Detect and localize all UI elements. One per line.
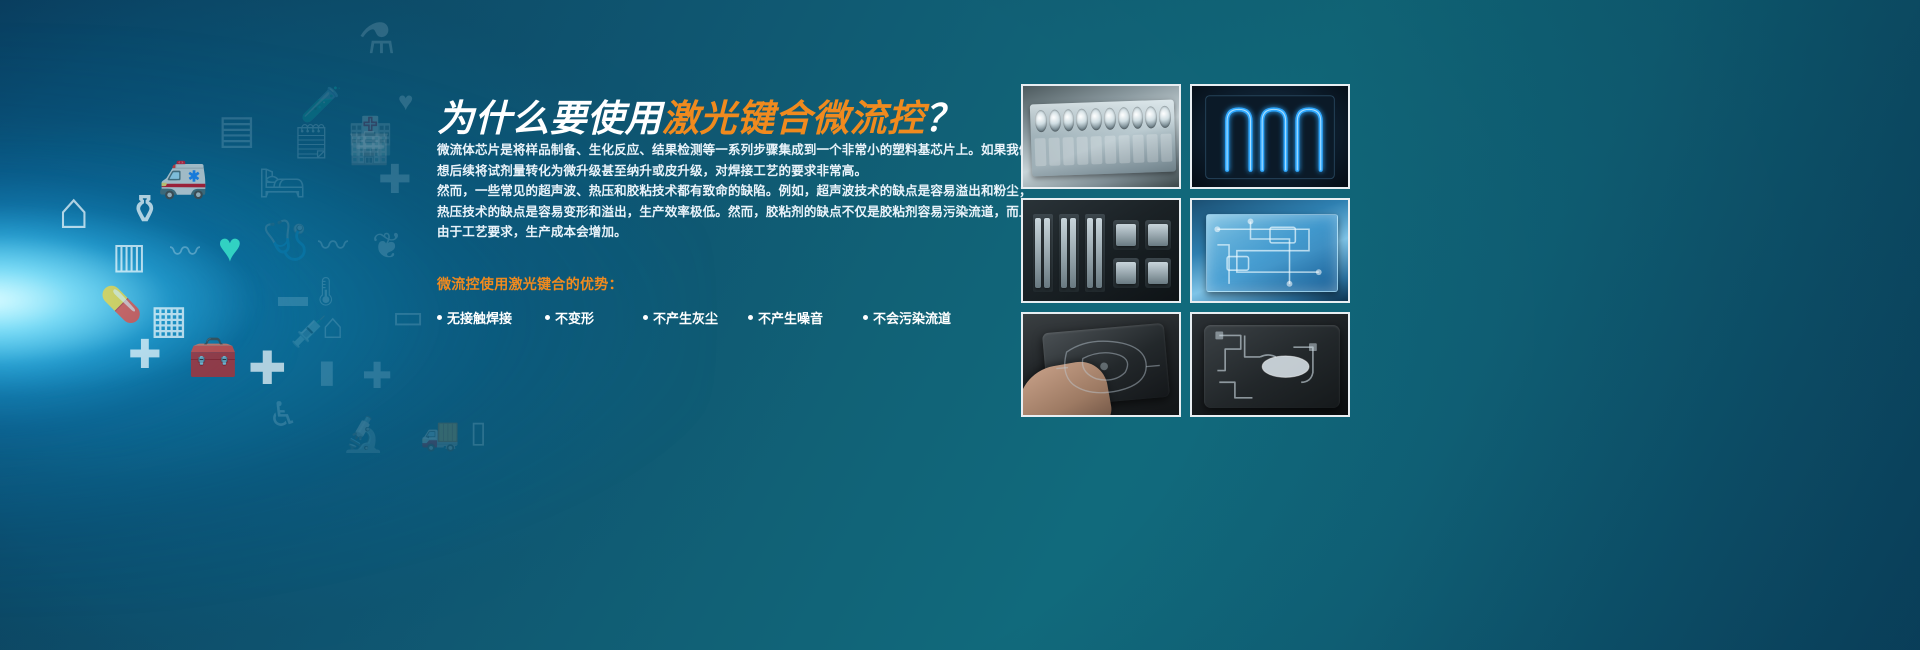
- gallery-item-4[interactable]: [1190, 198, 1350, 303]
- book-icon: ▭: [392, 300, 424, 334]
- id-card-icon: ▤: [218, 110, 256, 150]
- title-white-part: 为什么要使用: [437, 98, 662, 139]
- wheelchair-icon: ♿: [268, 398, 298, 432]
- test-tube-icon: 🧪: [300, 88, 342, 122]
- thermometer-icon: 🌡: [308, 278, 344, 306]
- cross-circle-icon: ✚: [128, 335, 162, 375]
- microscope-icon: 🔬: [342, 418, 384, 452]
- advantage-item: 无接触焊接: [437, 308, 545, 327]
- stethoscope-icon: 🩺: [262, 222, 309, 260]
- heart-icon: ♥: [218, 228, 242, 268]
- text-content: 为什么要使用激光键合微流控？ 微流体芯片是将样品制备、生化反应、结果检测等一系列…: [437, 0, 997, 650]
- first-aid-kit-icon: 🧰: [188, 338, 238, 378]
- bullet-dot-icon: [863, 315, 868, 320]
- advantages-subheading: 微流控使用激光键合的优势：: [437, 274, 623, 294]
- battery-icon: ▮: [318, 355, 336, 387]
- advantage-label: 不产生灰尘: [653, 308, 718, 327]
- hospital-bed-icon: 🛏: [258, 165, 306, 203]
- black-flexible-chip-in-hand-image: [1023, 314, 1179, 415]
- clear-strip-chip-array-image: [1023, 200, 1179, 301]
- serpentine-channel-chip-blue-image: [1192, 86, 1348, 187]
- advantage-item: 不变形: [545, 308, 643, 327]
- advantage-label: 不会污染流道: [873, 308, 951, 327]
- building-icon: 🏢: [348, 130, 390, 164]
- body-paragraph-line: 热压技术的缺点是容易变形和溢出，生产效率极低。然而，胶粘剂的缺点不仅是胶粘剂容易…: [437, 202, 967, 223]
- heart-pulse-icon: ♥: [398, 88, 413, 114]
- promo-banner: ⚗🧪▤🗒🏥♥🚑🛏✚🏢⌂⚱▥〰♥🩺〰❦💊▦▬🌡⌂▭✚💉🧰✚▮✚♿🔬🚚▯ 为什么要使…: [0, 0, 1920, 650]
- advantage-label: 不变形: [555, 308, 594, 327]
- advantage-label: 无接触焊接: [447, 308, 512, 327]
- clipboard-icon: 🗒: [290, 125, 333, 159]
- advantages-list: 无接触焊接不变形不产生灰尘不产生噪音不会污染流道: [437, 308, 967, 327]
- advantage-item: 不产生灰尘: [643, 308, 748, 327]
- body-paragraphs: 微流体芯片是将样品制备、生化反应、结果检测等一系列步骤集成到一个非常小的塑料基芯…: [437, 140, 967, 243]
- gallery-item-2[interactable]: [1190, 84, 1350, 189]
- bullet-dot-icon: [545, 315, 550, 320]
- medical-cross-icon: ✚: [248, 345, 287, 391]
- body-paragraph-line: 微流体芯片是将样品制备、生化反应、结果检测等一系列步骤集成到一个非常小的塑料基芯…: [437, 140, 967, 161]
- page-title: 为什么要使用激光键合微流控？: [437, 88, 962, 142]
- ecg-line-icon: 〰: [170, 238, 200, 268]
- kidney-icon: ❦: [372, 228, 402, 264]
- product-image-gallery: [1021, 84, 1350, 417]
- flask-icon: ⚗: [358, 18, 396, 60]
- body-paragraph-line: 然而，一些常见的超声波、热压和胶粘技术都有致命的缺陷。例如，超声波技术的缺点是容…: [437, 181, 967, 202]
- advantage-label: 不产生噪音: [758, 308, 823, 327]
- potion-icon: ⚱: [128, 190, 162, 230]
- body-paragraph-line: 想后续将试剂量转化为微升级甚至纳升或皮升级，对焊接工艺的要求非常高。: [437, 161, 967, 182]
- bandage-icon: ▬: [278, 282, 308, 312]
- syringe-icon: 💉: [290, 318, 327, 348]
- bullet-dot-icon: [437, 315, 442, 320]
- title-orange-part: 激光键合微流控: [662, 98, 925, 139]
- advantage-item: 不产生噪音: [748, 308, 863, 327]
- ambulance-icon: 🚑: [158, 158, 208, 198]
- gallery-item-6[interactable]: [1190, 312, 1350, 417]
- cross-icon: ✚: [378, 160, 412, 200]
- black-cartridge-with-chamber-image: [1192, 314, 1348, 415]
- body-paragraph-line: 由于工艺要求，生产成本会增加。: [437, 222, 967, 243]
- bullet-dot-icon: [643, 315, 648, 320]
- home-plus-icon: ⌂: [58, 185, 89, 237]
- gallery-item-5[interactable]: [1021, 312, 1181, 417]
- microfluidic-well-plate-strip-image: [1023, 86, 1179, 187]
- title-question-mark: ？: [925, 98, 963, 139]
- capsule-icon: 💊: [100, 288, 142, 322]
- plus-icon: ✚: [362, 358, 392, 394]
- gallery-item-1[interactable]: [1021, 84, 1181, 189]
- bullet-dot-icon: [748, 315, 753, 320]
- pulse-icon: 〰: [318, 232, 348, 262]
- lab-rack-icon: ▥: [112, 238, 146, 274]
- gallery-item-3[interactable]: [1021, 198, 1181, 303]
- blue-transparent-manifold-image: [1192, 200, 1348, 301]
